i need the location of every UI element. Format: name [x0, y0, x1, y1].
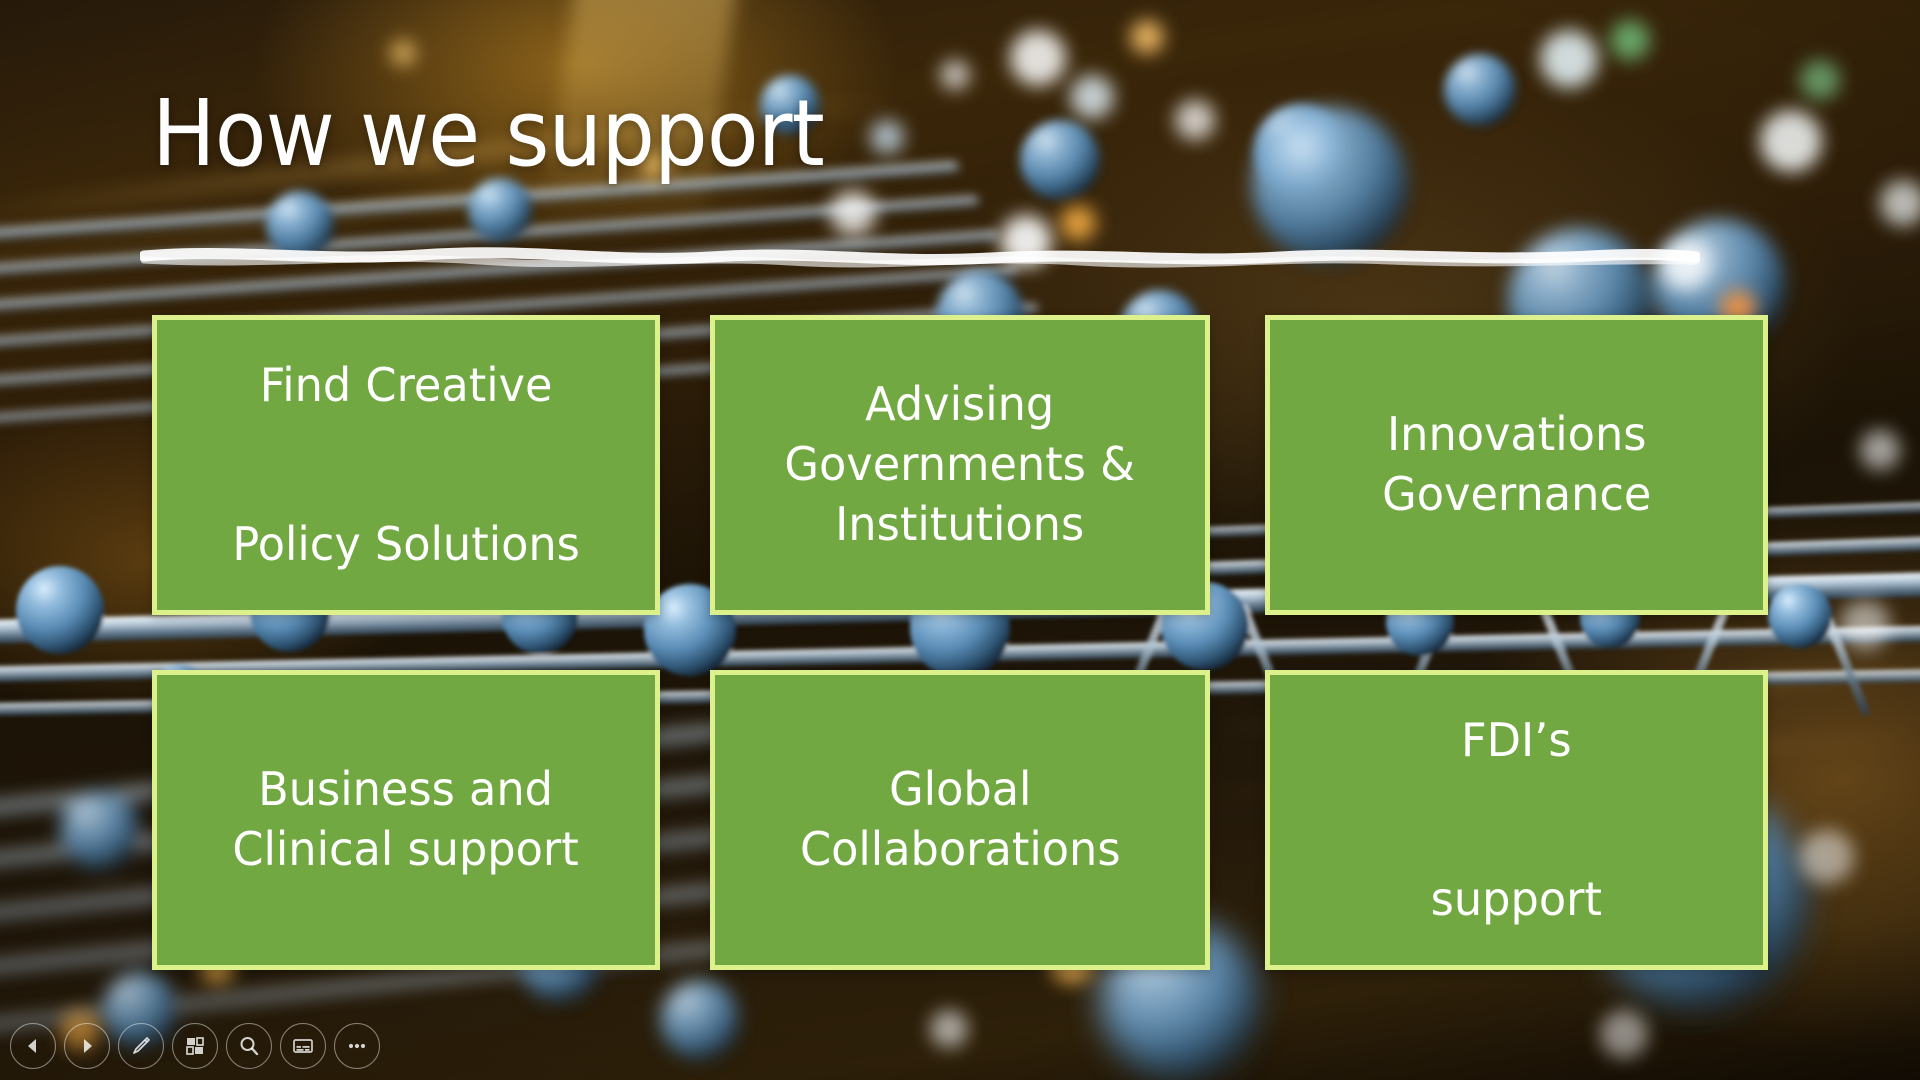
previous-slide-icon — [23, 1036, 43, 1056]
page-title: How we support — [152, 88, 824, 180]
content-box-label: Business and Clinical support — [233, 760, 579, 880]
content-box-label: Advising Governments & Institutions — [785, 375, 1136, 554]
ellipsis-icon — [345, 1034, 369, 1058]
magnifier-icon — [237, 1034, 261, 1058]
content-box-advising-governments-institutions[interactable]: Advising Governments & Institutions — [710, 315, 1210, 615]
content-box-global-collaborations[interactable]: Global Collaborations — [710, 670, 1210, 970]
content-box-label: Innovations Governance — [1382, 405, 1651, 525]
presentation-slide: How we support Find Creative Policy Solu… — [0, 0, 1920, 1080]
content-box-label: Global Collaborations — [800, 760, 1121, 880]
next-slide-button[interactable] — [64, 1023, 110, 1069]
title-wavy-divider — [140, 236, 1700, 276]
content-box-innovations-governance[interactable]: Innovations Governance — [1265, 315, 1768, 615]
grid-slides-icon — [183, 1034, 207, 1058]
pen-tools-button[interactable] — [118, 1023, 164, 1069]
pen-icon — [129, 1034, 153, 1058]
content-box-find-creative-policy-solutions[interactable]: Find Creative Policy Solutions — [152, 315, 660, 615]
content-box-label: Find Creative Policy Solutions — [232, 346, 580, 583]
toggle-subtitles-button[interactable] — [280, 1023, 326, 1069]
see-all-slides-button[interactable] — [172, 1023, 218, 1069]
zoom-into-slide-button[interactable] — [226, 1023, 272, 1069]
slideshow-toolbar — [10, 1020, 380, 1072]
next-slide-icon — [77, 1036, 97, 1056]
more-options-button[interactable] — [334, 1023, 380, 1069]
content-box-label: FDI’s support — [1431, 701, 1602, 938]
content-box-fdis-support[interactable]: FDI’s support — [1265, 670, 1768, 970]
previous-slide-button[interactable] — [10, 1023, 56, 1069]
subtitles-icon — [290, 1033, 316, 1059]
content-box-business-and-clinical-support[interactable]: Business and Clinical support — [152, 670, 660, 970]
